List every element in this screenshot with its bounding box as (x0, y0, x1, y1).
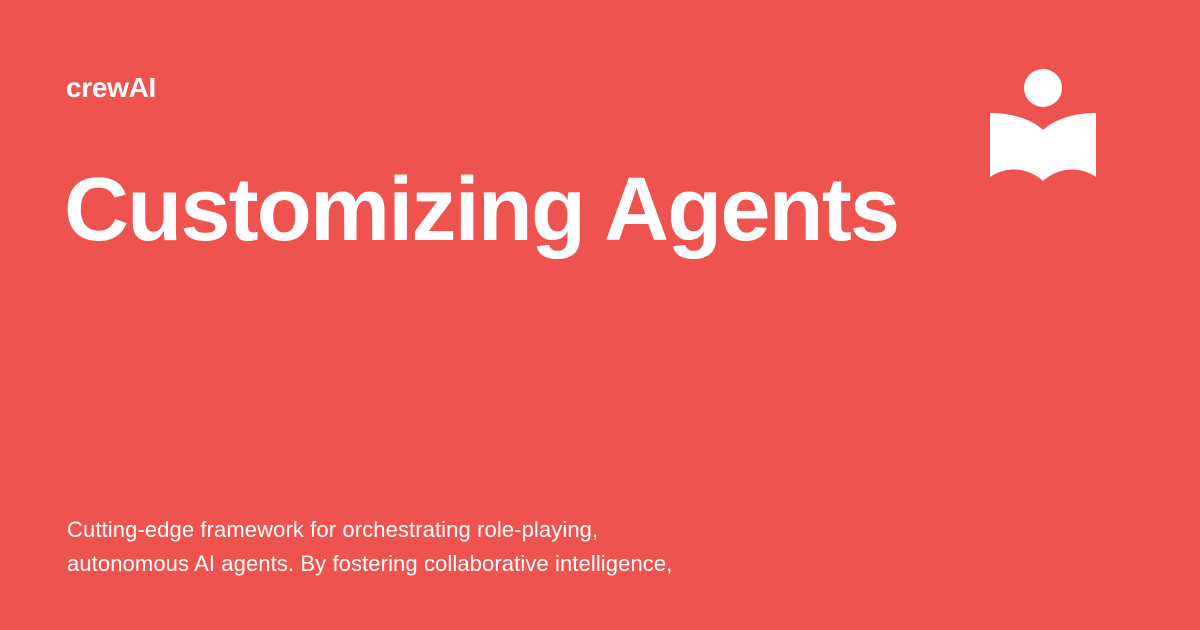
page-description: Cutting-edge framework for orchestrating… (67, 513, 907, 581)
page-description-line: Cutting-edge framework for orchestrating… (67, 513, 907, 547)
brand-wordmark: crewAI (66, 71, 156, 105)
open-book-reader-icon (985, 63, 1105, 185)
page-description-line: autonomous AI agents. By fostering colla… (67, 547, 907, 581)
og-preview-card: crewAI Customizing Agents Cutting-edge f… (0, 0, 1200, 630)
page-title: Customizing Agents (64, 160, 924, 260)
